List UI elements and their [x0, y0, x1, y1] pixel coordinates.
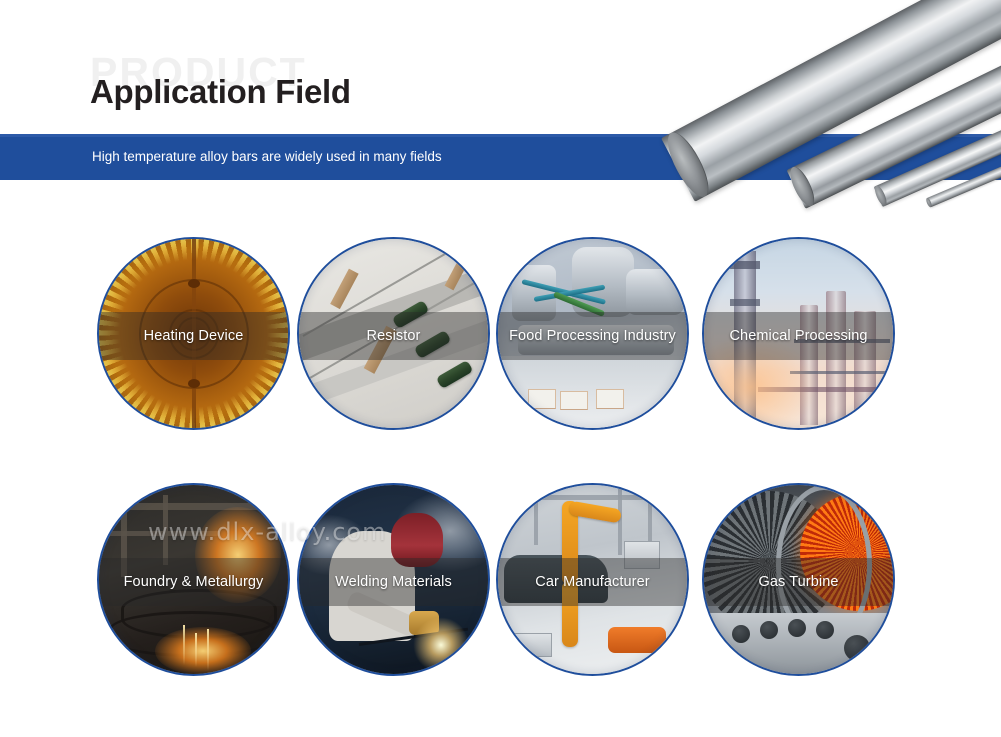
circle-frame: Heating Device [97, 237, 290, 430]
application-item-label: Heating Device [140, 328, 248, 344]
application-item-label: Gas Turbine [754, 574, 842, 590]
ceiling-rail [516, 495, 676, 500]
label-band: Resistor [297, 312, 490, 360]
equipment-crate [506, 633, 552, 657]
application-item-label: Resistor [363, 328, 425, 344]
circle-frame: Gas Turbine [702, 483, 895, 676]
machine-housing [626, 269, 684, 315]
application-item-label: Foundry & Metallurgy [120, 574, 268, 590]
label-band: Foundry & Metallurgy [97, 558, 290, 606]
bore-hole [788, 619, 806, 637]
spark [195, 633, 197, 667]
circle-frame: Food Processing Industry [496, 237, 689, 430]
heater-knob [188, 279, 200, 288]
application-field-grid: Heating Device Resistor [0, 0, 1001, 737]
label-band: Heating Device [97, 312, 290, 360]
welding-arc-flash [413, 617, 469, 673]
product-box [560, 391, 588, 410]
molten-glow [155, 627, 251, 675]
bore-hole [816, 621, 834, 639]
tower-platform [730, 261, 760, 269]
label-band: Chemical Processing [702, 312, 895, 360]
circle-frame: Chemical Processing [702, 237, 895, 430]
spark [207, 629, 209, 671]
label-band: Car Manufacturer [496, 558, 689, 606]
application-item-label: Welding Materials [331, 574, 456, 590]
steel-column [163, 495, 168, 565]
circle-frame: Foundry & Metallurgy [97, 483, 290, 676]
circle-frame: Welding Materials [297, 483, 490, 676]
frame-post [534, 485, 538, 545]
application-item-label: Car Manufacturer [531, 574, 653, 590]
application-item-heating-device[interactable]: Heating Device [97, 237, 290, 430]
application-item-gas-turbine[interactable]: Gas Turbine [702, 483, 895, 676]
application-item-chemical-processing[interactable]: Chemical Processing [702, 237, 895, 430]
label-band: Welding Materials [297, 558, 490, 606]
actuator [608, 627, 666, 653]
application-item-resistor[interactable]: Resistor [297, 237, 490, 430]
application-item-welding-materials[interactable]: Welding Materials [297, 483, 490, 676]
application-item-car-manufacturer[interactable]: Car Manufacturer [496, 483, 689, 676]
label-band: Gas Turbine [702, 558, 895, 606]
factory-floor [498, 356, 687, 428]
application-item-foundry-metallurgy[interactable]: Foundry & Metallurgy [97, 483, 290, 676]
application-item-food-processing[interactable]: Food Processing Industry [496, 237, 689, 430]
circle-frame: Resistor [297, 237, 490, 430]
spark [183, 625, 185, 665]
application-item-label: Chemical Processing [725, 328, 871, 344]
heater-knob [188, 379, 200, 388]
steel-beam [99, 503, 288, 510]
bore-hole [760, 621, 778, 639]
product-box [528, 389, 556, 409]
bore-hole [844, 635, 870, 661]
circle-frame: Car Manufacturer [496, 483, 689, 676]
bore-hole [732, 625, 750, 643]
application-item-label: Food Processing Industry [505, 328, 680, 344]
product-box [596, 389, 624, 409]
tower-platform [730, 299, 760, 306]
label-band: Food Processing Industry [496, 312, 689, 360]
